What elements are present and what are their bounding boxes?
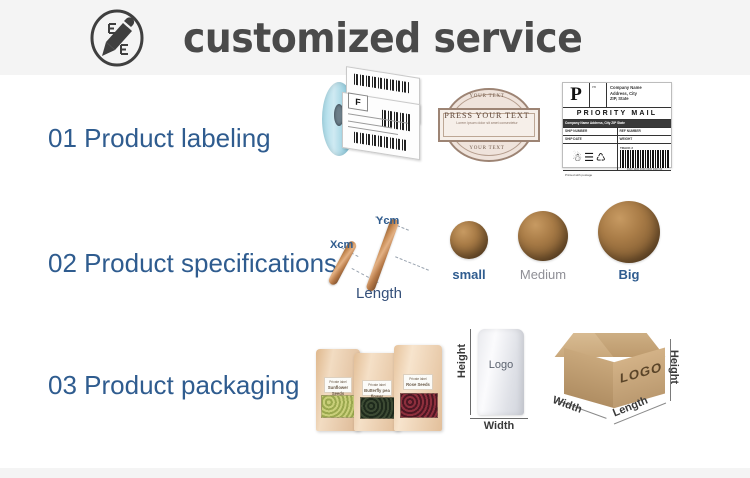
pouch-3-label: Private label Rose Seeds xyxy=(403,374,434,390)
pmail-meta: PB xyxy=(590,83,607,107)
pmail-field-row-1: SHIP NUMBER REF NUMBER xyxy=(563,128,671,136)
thermal-label-roll: F xyxy=(320,70,430,175)
sack-height-label: Height xyxy=(456,341,468,381)
sack-logo-text: Logo xyxy=(478,359,524,371)
woven-sack: Logo Height Width xyxy=(450,323,546,435)
pmail-header: P PB Company Name Address, City ZIP, Sta… xyxy=(563,83,671,108)
pmail-field-weight: WEIGHT xyxy=(617,136,672,143)
pmail-field-ref-number: REF NUMBER xyxy=(617,128,672,135)
pmail-field-ship-number: SHIP NUMBER xyxy=(563,128,617,135)
carton-box: LOGO Height Width Length xyxy=(550,323,700,435)
stand-up-pouches: Private label Sunflower Seeds Private la… xyxy=(314,331,444,431)
section-number-1: 01 xyxy=(48,123,77,153)
row-2-media: Xcm Ycm Length small Medium Big xyxy=(310,203,750,323)
pmail-field-ship-date: SHIP DATE xyxy=(563,136,617,143)
stick-long xyxy=(365,218,399,292)
pencil-edit-circle-icon xyxy=(86,9,148,67)
pouch-1-small-text: Private label xyxy=(329,380,347,384)
section-title-3: Product packaging xyxy=(84,370,299,400)
section-title-2: Product specifications xyxy=(84,248,337,278)
section-number-3: 03 xyxy=(48,370,77,400)
pouch-1-label: Private label Sunflower Seeds xyxy=(324,377,352,393)
pmail-body: ☃☰♺ TRACK # 9400 1000 0000 0000 0000 00 xyxy=(563,144,671,171)
sack-width-label: Width xyxy=(470,420,528,432)
ball-big-caption: Big xyxy=(598,267,660,282)
section-number-2: 02 xyxy=(48,248,77,278)
pmail-handling-icons: ☃☰♺ xyxy=(563,144,618,170)
pmail-dark-row: Company Name Address, City ZIP State xyxy=(563,120,671,128)
ball-small-caption: small xyxy=(438,267,500,282)
pmail-dark-text: Company Name Address, City ZIP State xyxy=(563,120,671,127)
sack-height-line xyxy=(470,329,471,415)
ornate-sub-text: Lorem ipsum dolor sit amet consectetur xyxy=(438,121,536,126)
pouch-3-small-text: Private label xyxy=(409,377,427,381)
length-sticks: Xcm Ycm Length xyxy=(320,197,438,309)
pouch-2-small-text: Private label xyxy=(368,383,386,387)
pouch-2-window xyxy=(360,397,397,419)
ornate-bottom-text: YOUR TEXT xyxy=(438,146,536,151)
ball-big xyxy=(598,201,660,263)
ball-medium-caption: Medium xyxy=(508,267,578,282)
ornate-main-text: PRESS YOUR TEXT xyxy=(438,110,536,121)
section-product-specifications: 02 Product specifications Xcm Ycm Length… xyxy=(0,203,750,323)
ornate-vintage-label: YOUR TEXT PRESS YOUR TEXT Lorem ipsum do… xyxy=(438,88,536,158)
pmail-footer: Printed with postage xyxy=(563,171,671,189)
pouch-2-label: Private label Butterfly pea flower xyxy=(362,380,391,396)
section-label-2: 02 Product specifications xyxy=(0,248,310,279)
page-title: customized service xyxy=(183,14,582,62)
pmail-barcode xyxy=(620,150,669,168)
pmail-logo: P xyxy=(563,83,590,107)
pouch-3: Private label Rose Seeds xyxy=(394,345,442,431)
pmail-band: PRIORITY MAIL xyxy=(563,108,671,120)
section-product-labeling: 01 Product labeling F YOUR TEXT PRESS YO… xyxy=(0,78,750,198)
pouch-1-window xyxy=(321,395,356,418)
roll-carrier-mark: F xyxy=(348,92,368,111)
ball-medium xyxy=(518,211,568,261)
priority-mail-shipping-label: P PB Company Name Address, City ZIP, Sta… xyxy=(562,82,672,168)
stick-label-x: Xcm xyxy=(330,239,353,251)
dim-dash-y2 xyxy=(395,256,429,270)
pmail-address-block: Company Name Address, City ZIP, State xyxy=(607,83,671,107)
row-1-media: F YOUR TEXT PRESS YOUR TEXT Lorem ipsum … xyxy=(310,78,750,198)
row-3-media: Private label Sunflower Seeds Private la… xyxy=(310,325,750,445)
pmail-zip: ZIP, State xyxy=(610,96,668,102)
pouch-3-window xyxy=(400,393,438,417)
pouch-3-name-text: Rose Seeds xyxy=(406,382,430,387)
page-header: customized service xyxy=(0,0,750,75)
page-footer-band xyxy=(0,468,750,478)
sack-body xyxy=(478,329,524,415)
pmail-field-row-2: SHIP DATE WEIGHT xyxy=(563,136,671,144)
pmail-barcode-number: 9400 1000 0000 0000 0000 00 xyxy=(620,168,669,171)
section-product-packaging: 03 Product packaging Private label Sunfl… xyxy=(0,325,750,445)
sack-width-line xyxy=(470,418,528,419)
pmail-tracking-block: TRACK # 9400 1000 0000 0000 0000 00 xyxy=(618,144,671,170)
ball-small xyxy=(450,221,488,259)
section-label-3: 03 Product packaging xyxy=(0,370,310,401)
length-caption: Length xyxy=(320,285,438,302)
box-height-label: Height xyxy=(668,347,680,387)
section-label-1: 01 Product labeling xyxy=(0,123,310,154)
stick-label-y: Ycm xyxy=(376,215,399,227)
section-title-1: Product labeling xyxy=(84,123,270,153)
ornate-top-text: YOUR TEXT xyxy=(438,94,536,99)
